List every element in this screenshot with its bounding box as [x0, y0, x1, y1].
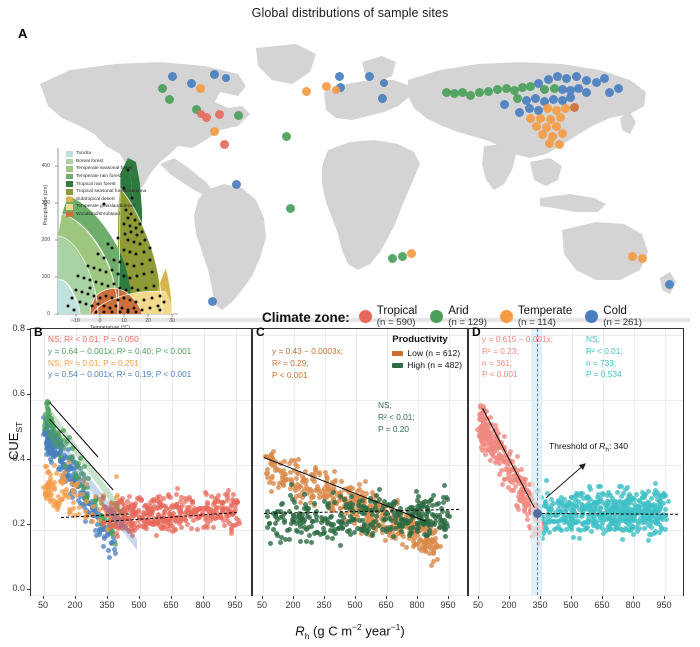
stat-above-line2: R² < 0.01;: [586, 346, 623, 358]
data-point: [338, 506, 343, 511]
xtick-mark: [571, 596, 572, 599]
site-marker: [582, 88, 591, 97]
biome-swatch-icon: [66, 197, 73, 203]
data-point: [415, 498, 420, 503]
xtick-label-800: 800: [190, 600, 216, 610]
data-point: [317, 472, 322, 477]
y-axis-label: CUEST: [6, 386, 24, 496]
panel-c-plot: y = 0.43 − 0.0003x; R² = 0.29; P < 0.001…: [252, 328, 468, 596]
biome-swatch-icon: [66, 189, 73, 195]
site-marker: [561, 104, 570, 113]
biome-label: Tropical seasonal forest/savanna: [76, 189, 146, 194]
data-point: [309, 540, 314, 545]
biome-legend-item: Subtropical desert: [66, 196, 146, 204]
xtick-mark: [107, 596, 108, 599]
data-point: [290, 517, 295, 522]
xtick-mark: [602, 596, 603, 599]
xtick-label-950: 950: [435, 600, 461, 610]
xtick-label-500: 500: [342, 600, 368, 610]
shared-y-axis: CUEST 0.8 0.6 0.4 0.2 0.0: [0, 322, 30, 590]
stat-low-line3: P < 0.001: [272, 370, 343, 382]
site-marker: [196, 84, 205, 93]
data-point: [173, 527, 178, 532]
data-point: [329, 514, 334, 519]
data-point: [502, 434, 507, 439]
site-marker: [475, 88, 484, 97]
data-point: [166, 492, 171, 497]
data-point: [627, 523, 632, 528]
threshold-label-pre: Threshold of: [549, 441, 599, 451]
site-marker: [202, 113, 211, 122]
data-point: [411, 544, 416, 549]
stat-low-line1: y = 0.43 − 0.0003x;: [272, 346, 343, 358]
data-point: [71, 500, 76, 505]
data-point: [431, 559, 436, 564]
data-point: [84, 499, 89, 504]
data-point: [90, 519, 95, 524]
ytick-0-8: 0.8: [3, 323, 25, 333]
data-point: [270, 474, 275, 479]
high-label: High (n = 482): [407, 360, 462, 370]
data-point: [159, 525, 164, 530]
site-marker: [665, 280, 674, 289]
data-point: [623, 487, 628, 492]
data-point: [175, 518, 180, 523]
data-point: [271, 527, 276, 532]
data-point: [175, 486, 180, 491]
data-point: [646, 489, 651, 494]
data-point: [358, 527, 363, 532]
data-point: [657, 530, 662, 535]
data-point: [404, 545, 409, 550]
xtick-label-950: 950: [651, 600, 677, 610]
panel-d-stats-below: y = 0.615 − 0.001x; R² = 0.23; n = 361; …: [482, 334, 553, 381]
biome-legend-item: Temperate rain forest: [66, 173, 146, 181]
ytick-0-2: 0.2: [3, 518, 25, 528]
data-point: [298, 500, 303, 505]
site-marker: [628, 252, 637, 261]
site-marker: [493, 85, 502, 94]
site-marker: [232, 180, 241, 189]
data-point: [383, 538, 388, 543]
xtick-label-800: 800: [404, 600, 430, 610]
data-point: [427, 528, 432, 533]
data-point: [152, 522, 157, 527]
site-marker: [365, 72, 374, 81]
panel-b-plot: NS; R² < 0.01; P = 0.050 y = 0.64 − 0.00…: [30, 328, 252, 596]
stat-arid: y = 0.64 − 0.001x; R² = 0.40; P < 0.001: [48, 346, 191, 358]
productivity-legend-title: Productivity: [392, 334, 462, 345]
inset-y-axis-label: Precipitation (cm): [43, 165, 49, 245]
y-axis-label-sub: ST: [14, 422, 24, 433]
ytick-0-4: 0.4: [3, 453, 25, 463]
site-marker: [515, 108, 524, 117]
data-point: [351, 517, 356, 522]
data-point: [344, 502, 349, 507]
site-marker: [538, 130, 547, 139]
biome-label: Woodland/shrubland: [76, 212, 120, 217]
data-point: [596, 484, 601, 489]
data-point: [296, 457, 301, 462]
site-marker: [234, 111, 243, 120]
site-marker: [638, 254, 647, 263]
data-point: [646, 504, 651, 509]
data-point: [666, 499, 671, 504]
data-point: [617, 519, 622, 524]
site-marker: [558, 129, 567, 138]
site-marker: [555, 140, 564, 149]
data-point: [515, 454, 520, 459]
high-swatch-icon: [392, 363, 403, 368]
xtick-mark: [478, 596, 479, 599]
data-point: [235, 499, 240, 504]
biome-swatch-icon: [66, 181, 73, 187]
panel-b-stats: NS; R² < 0.01; P = 0.050 y = 0.64 − 0.00…: [48, 334, 191, 381]
biome-legend-item: Temperate seasonal forest: [66, 165, 146, 173]
data-point: [613, 501, 618, 506]
xtick-label-800: 800: [620, 600, 646, 610]
data-point: [653, 481, 658, 486]
site-marker: [286, 204, 295, 213]
data-point: [273, 514, 278, 519]
xtick-mark: [540, 596, 541, 599]
biome-label: Temperate seasonal forest: [76, 166, 133, 171]
data-point: [265, 514, 270, 519]
biome-swatch-icon: [66, 166, 73, 172]
data-point: [631, 496, 636, 501]
data-point: [554, 526, 559, 531]
data-point: [142, 525, 147, 530]
data-point: [497, 472, 502, 477]
data-point: [339, 479, 344, 484]
data-point: [523, 497, 528, 502]
data-point: [577, 536, 582, 541]
site-marker: [335, 72, 344, 81]
site-marker: [388, 254, 397, 263]
data-point: [282, 518, 287, 523]
data-point: [294, 476, 299, 481]
ytick-0-6: 0.6: [3, 388, 25, 398]
data-point: [161, 496, 166, 501]
biome-label: Temperate grassland/desert: [76, 204, 135, 209]
data-point: [204, 492, 209, 497]
data-point: [515, 504, 520, 509]
data-point: [480, 427, 485, 432]
data-point: [307, 533, 312, 538]
data-point: [635, 529, 640, 534]
data-point: [102, 536, 107, 541]
xtick-label-650: 650: [373, 600, 399, 610]
threshold-node-icon: [533, 509, 542, 518]
data-point: [435, 557, 440, 562]
data-point: [174, 492, 179, 497]
biome-legend-item: Tropical rain forest: [66, 180, 146, 188]
stat-below-line3: n = 361;: [482, 358, 553, 370]
data-point: [268, 541, 273, 546]
xtick-label-200: 200: [62, 600, 88, 610]
biome-legend-item: Temperate grassland/desert: [66, 203, 146, 211]
site-marker: [158, 84, 167, 93]
data-point: [49, 487, 54, 492]
xtick-mark: [509, 596, 510, 599]
data-point: [445, 524, 450, 529]
data-point: [542, 503, 547, 508]
data-point: [431, 551, 436, 556]
xtick-mark: [293, 596, 294, 599]
stat-cold: y = 0.54 − 0.001x; R² = 0.19; P < 0.001: [48, 369, 191, 381]
site-marker: [165, 95, 174, 104]
data-point: [60, 481, 65, 486]
data-point: [321, 518, 326, 523]
data-point: [357, 482, 362, 487]
data-point: [438, 544, 443, 549]
data-point: [312, 501, 317, 506]
data-point: [106, 548, 111, 553]
data-point: [302, 492, 307, 497]
data-point: [571, 535, 576, 540]
data-point: [377, 487, 382, 492]
xtick-label-350: 350: [311, 600, 337, 610]
panel-d-stats-above: NS; R² < 0.01; n = 733; P = 0.534: [586, 334, 623, 381]
data-point: [75, 481, 80, 486]
data-point: [179, 495, 184, 500]
data-point: [613, 507, 618, 512]
data-point: [328, 528, 333, 533]
data-point: [627, 501, 632, 506]
biome-legend-item: Boreal forest: [66, 158, 146, 166]
xtick-label-500: 500: [126, 600, 152, 610]
data-point: [278, 540, 283, 545]
site-marker: [544, 75, 553, 84]
stat-temperate: NS; R² = 0.01; P = 0.251: [48, 358, 191, 370]
xtick-label-950: 950: [222, 600, 248, 610]
site-marker: [566, 93, 575, 102]
x-axis-label-sup1: −2: [352, 622, 362, 632]
x-axis-label-end: ): [400, 623, 404, 638]
data-point: [567, 523, 572, 528]
site-marker: [378, 94, 387, 103]
data-point: [113, 551, 118, 556]
data-point: [236, 518, 241, 523]
data-point: [601, 518, 606, 523]
stat-above-line1: NS;: [586, 334, 623, 346]
stat-below-line2: R² = 0.23;: [482, 346, 553, 358]
data-point: [114, 531, 119, 536]
x-axis-label-unit1: (g C m: [309, 623, 352, 638]
low-swatch-icon: [392, 351, 403, 356]
xtick-mark: [355, 596, 356, 599]
data-point: [500, 482, 505, 487]
xtick-mark: [235, 596, 236, 599]
data-point: [265, 475, 270, 480]
site-marker: [484, 87, 493, 96]
data-point: [113, 542, 118, 547]
data-point: [323, 489, 328, 494]
data-point: [442, 483, 447, 488]
data-point: [330, 536, 335, 541]
biome-label: Boreal forest: [76, 159, 103, 164]
biome-legend-item: Tundra: [66, 150, 146, 158]
site-marker: [332, 86, 340, 94]
data-point: [654, 521, 659, 526]
data-point: [298, 539, 303, 544]
data-point: [154, 533, 159, 538]
biome-label: Temperate rain forest: [76, 174, 121, 179]
biome-label: Subtropical desert: [76, 197, 115, 202]
panel-c-letter: C: [256, 325, 265, 339]
xtick-label-650: 650: [158, 600, 184, 610]
data-point: [502, 477, 507, 482]
data-point: [357, 499, 362, 504]
data-point: [420, 511, 425, 516]
data-point: [137, 523, 142, 528]
data-point: [649, 525, 654, 530]
data-point: [63, 464, 68, 469]
xtick-label-50: 50: [30, 600, 56, 610]
data-point: [601, 531, 606, 536]
x-axis-label: Rh (g C m−2 year−1): [0, 622, 700, 641]
data-point: [606, 490, 611, 495]
data-point: [621, 507, 626, 512]
productivity-legend-item-high: High (n = 482): [392, 360, 462, 370]
biome-swatch-icon: [66, 151, 73, 157]
inset-ytick-100: 100: [32, 274, 50, 280]
xtick-label-50: 50: [249, 600, 275, 610]
data-point: [436, 501, 441, 506]
data-point: [426, 500, 431, 505]
panel-c-stats-high: NS; R² < 0.01; P = 0.20: [378, 400, 415, 435]
xtick-mark: [171, 596, 172, 599]
site-marker: [572, 72, 581, 81]
x-axis-label-unit2: year: [362, 623, 391, 638]
biome-swatch-icon: [66, 174, 73, 180]
data-point: [311, 494, 316, 499]
data-point: [652, 508, 657, 513]
data-point: [332, 527, 337, 532]
site-marker: [220, 140, 229, 149]
stat-above-line3: n = 733;: [586, 358, 623, 370]
data-point: [287, 537, 292, 542]
data-point: [270, 463, 275, 468]
data-point: [280, 474, 285, 479]
site-marker: [513, 94, 522, 103]
data-point: [130, 521, 135, 526]
xtick-mark: [43, 596, 44, 599]
data-point: [126, 504, 131, 509]
data-point: [646, 538, 651, 543]
data-point: [519, 467, 524, 472]
stat-low-line2: R² = 0.29;: [272, 358, 343, 370]
site-marker: [187, 79, 196, 88]
xtick-mark: [203, 596, 204, 599]
data-point: [338, 543, 343, 548]
data-point: [295, 464, 300, 469]
data-point: [332, 500, 337, 505]
data-point: [146, 519, 151, 524]
inset-ytick-0: 0: [32, 311, 50, 317]
panel-d-letter: D: [472, 325, 481, 339]
stat-high-line2: R² < 0.01;: [378, 412, 415, 424]
stat-above-line4: P = 0.534: [586, 369, 623, 381]
biome-swatch-icon: [66, 159, 73, 165]
data-point: [596, 492, 601, 497]
xtick-label-200: 200: [496, 600, 522, 610]
biome-legend-item: Tropical seasonal forest/savanna: [66, 188, 146, 196]
data-point: [349, 505, 354, 510]
scatter-panels: CUEST 0.8 0.6 0.4 0.2 0.0: [0, 322, 700, 647]
data-point: [101, 544, 106, 549]
data-point: [443, 534, 448, 539]
site-marker: [549, 95, 558, 104]
productivity-legend-item-low: Low (n = 612): [392, 348, 462, 358]
data-point: [589, 529, 594, 534]
site-marker: [531, 94, 540, 103]
site-marker: [562, 74, 571, 83]
panel-a-map: A: [0, 22, 700, 322]
biome-legend: Tundra Boreal forest Temperate seasonal …: [66, 150, 146, 218]
data-point: [114, 474, 119, 479]
site-marker: [545, 139, 554, 148]
stat-high-line1: NS;: [378, 400, 415, 412]
data-point: [506, 485, 511, 490]
data-point: [215, 515, 220, 520]
world-map: 400 300 200 100 0 -10 0 10 20 30 Precipi…: [10, 22, 700, 322]
stat-high-line3: P = 0.20: [378, 424, 415, 436]
xtick-label-350: 350: [527, 600, 553, 610]
data-point: [620, 537, 625, 542]
data-point: [83, 519, 88, 524]
data-point: [50, 450, 55, 455]
site-marker: [600, 74, 609, 83]
stat-below-line1: y = 0.615 − 0.001x;: [482, 334, 553, 346]
site-marker: [210, 70, 219, 79]
panel-b-letter: B: [34, 325, 43, 339]
xtick-mark: [139, 596, 140, 599]
panel-d-plot: Threshold of Rh: 340 y = 0.615 − 0.001x;…: [468, 328, 684, 596]
threshold-label: Threshold of Rh: 340: [549, 441, 628, 454]
site-marker: [553, 72, 562, 81]
data-point: [120, 496, 125, 501]
xtick-mark: [633, 596, 634, 599]
xtick-label-350: 350: [94, 600, 120, 610]
biome-label: Tropical rain forest: [76, 182, 116, 187]
xtick-mark: [417, 596, 418, 599]
panel-c-stats-low: y = 0.43 − 0.0003x; R² = 0.29; P < 0.001: [272, 346, 343, 381]
data-point: [490, 446, 495, 451]
data-point: [399, 529, 404, 534]
site-marker: [570, 103, 579, 112]
data-point: [279, 502, 284, 507]
xtick-mark: [448, 596, 449, 599]
site-marker: [215, 110, 224, 119]
biome-label: Tundra: [76, 151, 91, 156]
data-point: [52, 480, 57, 485]
site-marker: [168, 72, 177, 81]
data-point: [269, 489, 274, 494]
stat-below-line4: P < 0.001: [482, 369, 553, 381]
data-point: [294, 494, 299, 499]
data-point: [139, 498, 144, 503]
biome-swatch-icon: [66, 212, 73, 218]
data-point: [294, 505, 299, 510]
site-marker: [282, 132, 291, 141]
site-marker: [208, 297, 217, 306]
ytick-0-0: 0.0: [3, 583, 25, 593]
xtick-mark: [75, 596, 76, 599]
site-marker: [302, 87, 311, 96]
xtick-label-50: 50: [465, 600, 491, 610]
site-marker: [466, 91, 475, 100]
